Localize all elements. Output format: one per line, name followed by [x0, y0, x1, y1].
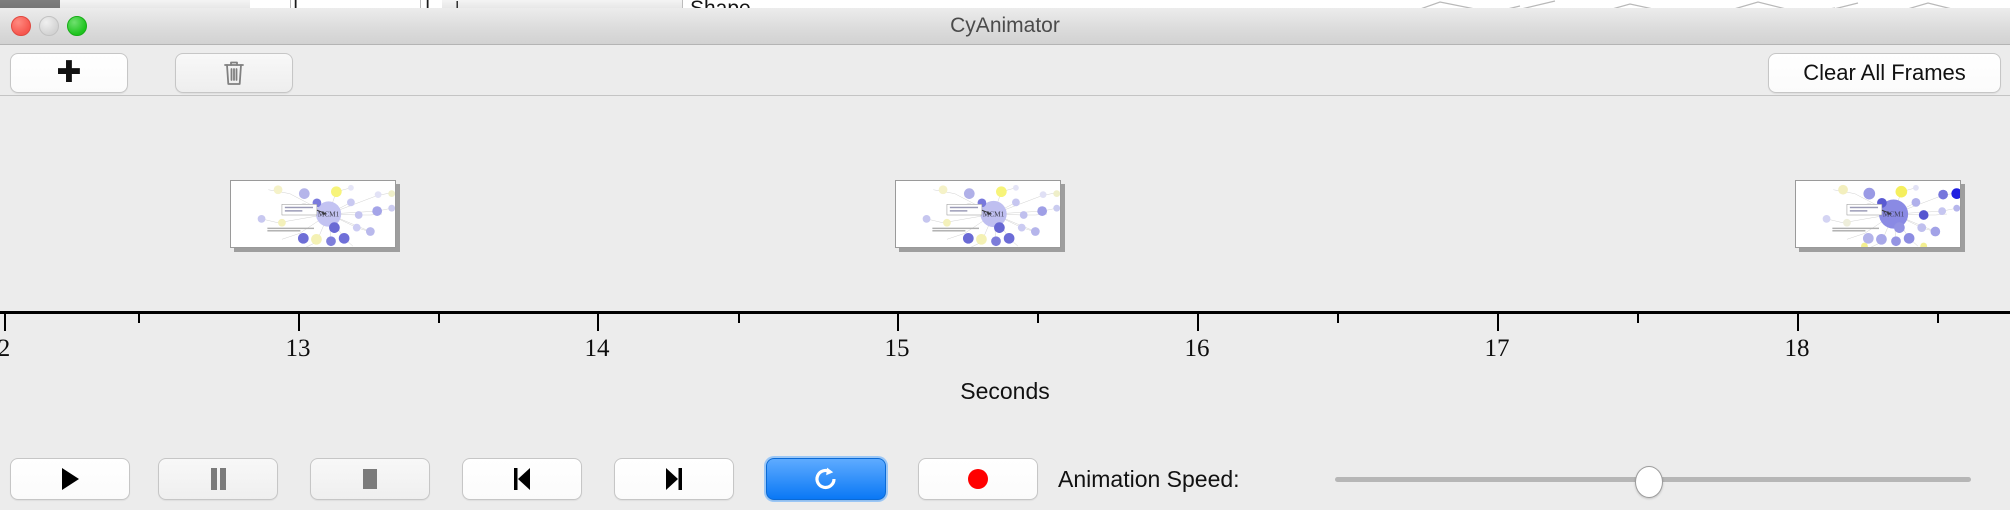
axis-tick-minor — [738, 314, 740, 323]
toolbar: ✚ Clear All Frames — [0, 45, 2010, 96]
network-preview: MCM1 — [896, 181, 1061, 248]
skip-to-start-button[interactable] — [462, 458, 582, 500]
clear-all-frames-button[interactable]: Clear All Frames — [1768, 53, 2001, 93]
play-button[interactable] — [10, 458, 130, 500]
axis-tick-label: 14 — [585, 335, 610, 363]
axis-tick-minor — [1037, 314, 1039, 323]
axis-tick-label: 2 — [0, 335, 10, 363]
axis-tick-label: 16 — [1185, 335, 1210, 363]
axis-tick-minor — [138, 314, 140, 323]
axis-tick-minor — [438, 314, 440, 323]
title-bar[interactable]: CyAnimator — [0, 8, 2010, 45]
animation-speed-label: Animation Speed: — [1058, 458, 1240, 500]
axis-tick-minor — [1937, 314, 1939, 323]
axis-tick-label: 15 — [885, 335, 910, 363]
animation-speed-slider-knob[interactable] — [1635, 466, 1663, 498]
stop-button[interactable] — [310, 458, 430, 500]
record-button[interactable] — [918, 458, 1038, 500]
axis-tick-major — [1497, 314, 1499, 331]
timeline-axis[interactable]: 2 13 14 15 16 17 18 — [0, 311, 2010, 381]
cyanimator-window: CyAnimator ✚ Clear All Frames — [0, 8, 2010, 510]
axis-tick-major — [1797, 314, 1799, 331]
play-icon — [60, 467, 80, 491]
window-title: CyAnimator — [0, 8, 2010, 44]
transport-bar: Animation Speed: — [0, 448, 2010, 510]
loop-icon — [813, 466, 839, 492]
axis-tick-major — [1197, 314, 1199, 331]
network-preview: MCM1 — [231, 181, 396, 248]
timeline-panel[interactable]: MCM1 — [0, 96, 2010, 420]
timeline-frame-thumbnail[interactable]: MCM1 — [895, 180, 1061, 248]
plus-icon: ✚ — [56, 58, 81, 88]
clear-all-frames-label: Clear All Frames — [1803, 60, 1966, 86]
axis-tick-minor — [1337, 314, 1339, 323]
axis-title: Seconds — [0, 378, 2010, 405]
axis-tick-label: 17 — [1485, 335, 1510, 363]
trash-icon — [222, 59, 246, 87]
axis-tick-major — [897, 314, 899, 331]
skip-end-icon — [663, 467, 685, 491]
axis-tick-major — [597, 314, 599, 331]
delete-frame-button[interactable] — [175, 53, 293, 93]
pause-button[interactable] — [158, 458, 278, 500]
skip-start-icon — [511, 467, 533, 491]
add-frame-button[interactable]: ✚ — [10, 53, 128, 93]
network-preview: MCM1 — [1796, 181, 1961, 248]
timeline-frame-thumbnail[interactable]: MCM1 — [1795, 180, 1961, 248]
skip-to-end-button[interactable] — [614, 458, 734, 500]
axis-tick-major — [298, 314, 300, 331]
svg-text:MCM1: MCM1 — [1883, 210, 1905, 218]
loop-button[interactable] — [766, 458, 886, 500]
svg-text:MCM1: MCM1 — [318, 210, 340, 218]
pause-icon — [208, 467, 228, 491]
svg-text:MCM1: MCM1 — [983, 210, 1005, 218]
axis-tick-minor — [1637, 314, 1639, 323]
timeline-frame-thumbnail[interactable]: MCM1 — [230, 180, 396, 248]
axis-line — [0, 311, 2010, 314]
axis-tick-major — [4, 314, 6, 331]
stop-icon — [359, 467, 381, 491]
axis-tick-label: 13 — [286, 335, 311, 363]
axis-tick-label: 18 — [1785, 335, 1810, 363]
record-icon — [966, 467, 990, 491]
